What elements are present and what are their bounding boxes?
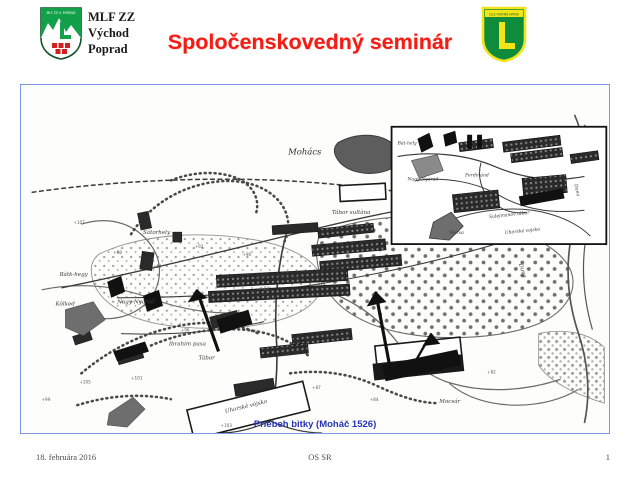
svg-text:MLF ZZ V. PORPAD: MLF ZZ V. PORPAD xyxy=(47,11,76,15)
map-label-nagy-nyarad: Nagy-Nyárád xyxy=(116,299,155,306)
battle-map-frame: Mohács xyxy=(20,84,610,434)
map-label-turkish-army: Turecké vojsko xyxy=(256,273,299,280)
footer-center-text: OS SR xyxy=(0,452,640,462)
svg-text:+84: +84 xyxy=(370,397,379,402)
logo-left-line1: MLF ZZ xyxy=(88,9,135,25)
map-label-satorhely: Sátorhely xyxy=(143,229,171,236)
svg-text:+107: +107 xyxy=(73,220,85,225)
svg-text:+96: +96 xyxy=(181,328,190,333)
map-label-village-w: Bátk-hegy xyxy=(58,271,88,278)
map-label-mocsar: Mocsár xyxy=(438,398,460,405)
svg-text:+90: +90 xyxy=(242,252,251,257)
svg-text:+82: +82 xyxy=(487,369,496,374)
logo-right: ÚLZ HORNÁ NITRA Úrad logistického zabezp… xyxy=(480,5,528,63)
svg-text:+87: +87 xyxy=(312,385,321,390)
slide-footer: 18. februára 2016 OS SR 1 xyxy=(0,452,640,472)
map-caption: Priebeh bitky (Moháč 1526) xyxy=(20,419,610,430)
page-title: Spoločenskovedný seminár xyxy=(150,30,470,55)
map-label-camp: Tábor sultána xyxy=(332,209,370,216)
svg-text:+101: +101 xyxy=(131,375,143,380)
logo-left-line3: Poprad xyxy=(88,41,135,57)
slide-header: MLF ZZ V. PORPAD MLF ZZ Východ Poprad Sp… xyxy=(0,0,640,78)
battle-map-image: Mohács xyxy=(21,85,609,433)
ulz-shield-icon: ÚLZ HORNÁ NITRA xyxy=(480,5,528,63)
map-inset-panel: Bát-hely Nagy-Nyárád Marsa Ferdinánd Sul… xyxy=(392,127,607,244)
inset-label-nagy-nyarad: Nagy-Nyárád xyxy=(406,175,438,182)
svg-text:+105: +105 xyxy=(79,379,91,384)
logo-left-line2: Východ xyxy=(88,25,135,41)
inset-label-title: Bát-hely xyxy=(397,140,418,147)
logo-left-text: MLF ZZ Východ Poprad xyxy=(88,9,135,57)
mlf-zz-shield-icon: MLF ZZ V. PORPAD xyxy=(38,5,84,61)
map-label-mohacs: Mohács xyxy=(287,147,322,157)
map-label-tabor: Tábor xyxy=(199,354,215,361)
map-label-village-sw: Kölked xyxy=(54,302,75,308)
svg-text:Ferdinánd: Ferdinánd xyxy=(464,171,489,178)
svg-text:ÚLZ HORNÁ NITRA: ÚLZ HORNÁ NITRA xyxy=(489,12,519,17)
svg-text:+88: +88 xyxy=(260,286,269,291)
inset-label-marsa: Marsa xyxy=(448,230,464,236)
svg-text:+92: +92 xyxy=(195,244,204,249)
svg-text:+99: +99 xyxy=(42,397,51,402)
footer-page-number: 1 xyxy=(606,452,610,462)
map-label-ibrahim: Ibrahim pasa xyxy=(168,342,206,348)
svg-text:+98: +98 xyxy=(113,250,122,255)
svg-text:+94: +94 xyxy=(153,264,162,269)
logo-left: MLF ZZ V. PORPAD MLF ZZ Východ Poprad xyxy=(38,5,84,61)
